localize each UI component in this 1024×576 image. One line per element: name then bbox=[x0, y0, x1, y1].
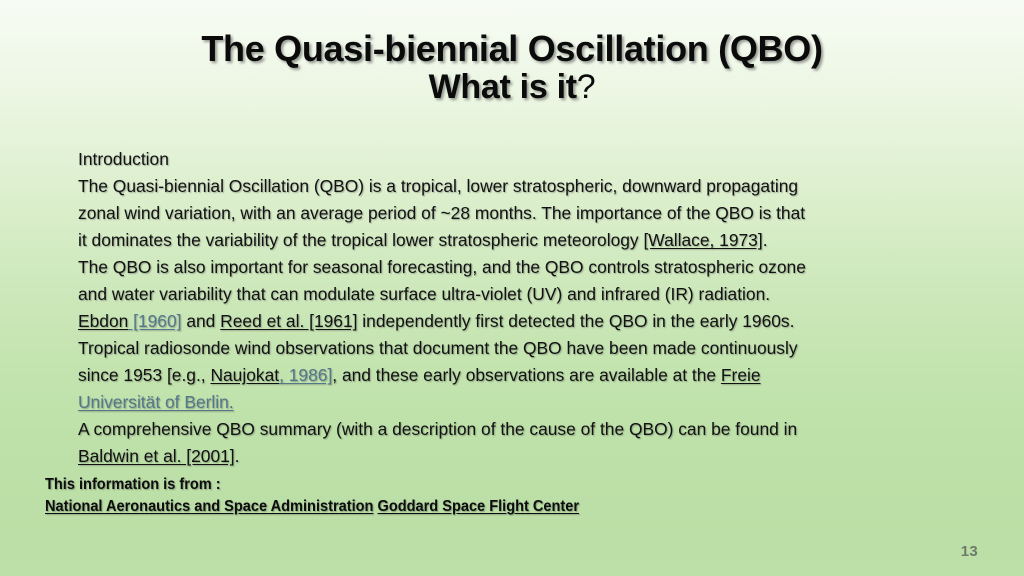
body-line-9-middle: , and these early observations are avail… bbox=[332, 365, 721, 385]
body-line-12: Baldwin et al. [2001]. bbox=[78, 443, 978, 470]
body-line-8-text: Tropical radiosonde wind observations th… bbox=[78, 338, 798, 358]
body-line-2-text: The Quasi-biennial Oscillation (QBO) is … bbox=[78, 176, 798, 196]
body-line-6: and water variability that can modulate … bbox=[78, 281, 978, 308]
body-heading-text: Introduction bbox=[78, 149, 169, 169]
body-line-6-text: and water variability that can modulate … bbox=[78, 284, 770, 304]
citation-link-reed-1961[interactable]: Reed et al. [1961] bbox=[220, 311, 357, 331]
footer-label-text: This information is from : bbox=[45, 476, 221, 493]
page-number: 13 bbox=[961, 543, 978, 560]
body-line-3-text: zonal wind variation, with an average pe… bbox=[78, 203, 805, 223]
footer-line-label: This information is from : bbox=[45, 474, 579, 496]
body-line-11: A comprehensive QBO summary (with a desc… bbox=[78, 416, 978, 443]
body-line-9: since 1953 [e.g., Naujokat, 1986], and t… bbox=[78, 362, 978, 389]
footer-line-links: National Aeronautics and Space Administr… bbox=[45, 496, 579, 518]
title-question-bold: What is it bbox=[429, 68, 577, 106]
body-line-5-text: The QBO is also important for seasonal f… bbox=[78, 257, 806, 277]
citation-link-wallace-1973[interactable]: [Wallace, 1973] bbox=[643, 230, 762, 250]
body-line-7-suffix: independently first detected the QBO in … bbox=[357, 311, 794, 331]
external-link-freie[interactable]: Freie bbox=[721, 365, 761, 385]
citation-link-ebdon[interactable]: Ebdon bbox=[78, 311, 128, 331]
citation-link-naujokat[interactable]: Naujokat bbox=[210, 365, 279, 385]
body-line-12-suffix: . bbox=[235, 446, 240, 466]
body-line-4-suffix: . bbox=[763, 230, 768, 250]
body-line-4-prefix: it dominates the variability of the trop… bbox=[78, 230, 643, 250]
title-line-secondary: What is it? bbox=[0, 69, 1024, 106]
title-question-mark: ? bbox=[577, 68, 596, 106]
citation-link-baldwin-2001[interactable]: Baldwin et al. [2001] bbox=[78, 446, 235, 466]
title-line-primary: The Quasi-biennial Oscillation (QBO) bbox=[0, 30, 1024, 69]
body-line-5: The QBO is also important for seasonal f… bbox=[78, 254, 978, 281]
citation-link-naujokat-year[interactable]: , 1986] bbox=[279, 365, 332, 385]
body-text-block: Introduction The Quasi-biennial Oscillat… bbox=[78, 146, 978, 470]
citation-link-ebdon-year[interactable]: [1960] bbox=[128, 311, 181, 331]
external-link-nasa[interactable]: National Aeronautics and Space Administr… bbox=[45, 498, 373, 515]
body-line-9-prefix: since 1953 [e.g., bbox=[78, 365, 210, 385]
body-line-3: zonal wind variation, with an average pe… bbox=[78, 200, 978, 227]
body-line-7: Ebdon [1960] and Reed et al. [1961] inde… bbox=[78, 308, 978, 335]
body-line-7-conjunction: and bbox=[181, 311, 220, 331]
source-attribution: This information is from : National Aero… bbox=[45, 474, 579, 518]
body-line-8: Tropical radiosonde wind observations th… bbox=[78, 335, 978, 362]
body-heading-introduction: Introduction bbox=[78, 146, 978, 173]
slide-canvas: The Quasi-biennial Oscillation (QBO) Wha… bbox=[0, 0, 1024, 576]
body-line-10: Universität of Berlin. bbox=[78, 389, 978, 416]
external-link-universitat-berlin[interactable]: Universität of Berlin. bbox=[78, 392, 234, 412]
slide-title: The Quasi-biennial Oscillation (QBO) Wha… bbox=[0, 30, 1024, 106]
body-line-11-text: A comprehensive QBO summary (with a desc… bbox=[78, 419, 797, 439]
body-line-4: it dominates the variability of the trop… bbox=[78, 227, 978, 254]
body-line-2: The Quasi-biennial Oscillation (QBO) is … bbox=[78, 173, 978, 200]
external-link-goddard[interactable]: Goddard Space Flight Center bbox=[377, 498, 579, 515]
